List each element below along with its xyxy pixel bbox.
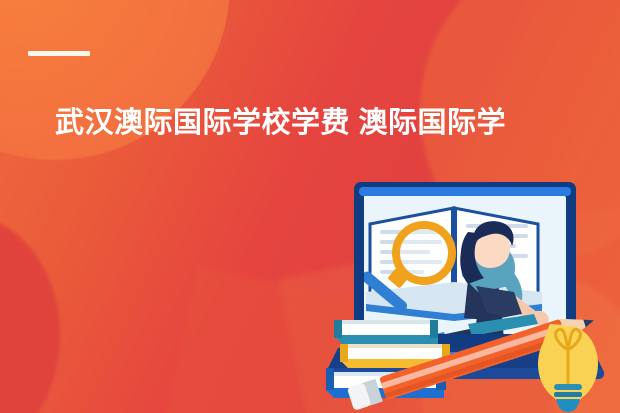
lightbulb-icon (538, 324, 598, 412)
online-learning-illustration (318, 168, 620, 413)
accent-rule (28, 51, 90, 56)
promo-banner: 武汉澳际国际学校学费 澳际国际学 (0, 0, 620, 413)
page-title: 武汉澳际国际学校学费 澳际国际学 (55, 104, 620, 142)
